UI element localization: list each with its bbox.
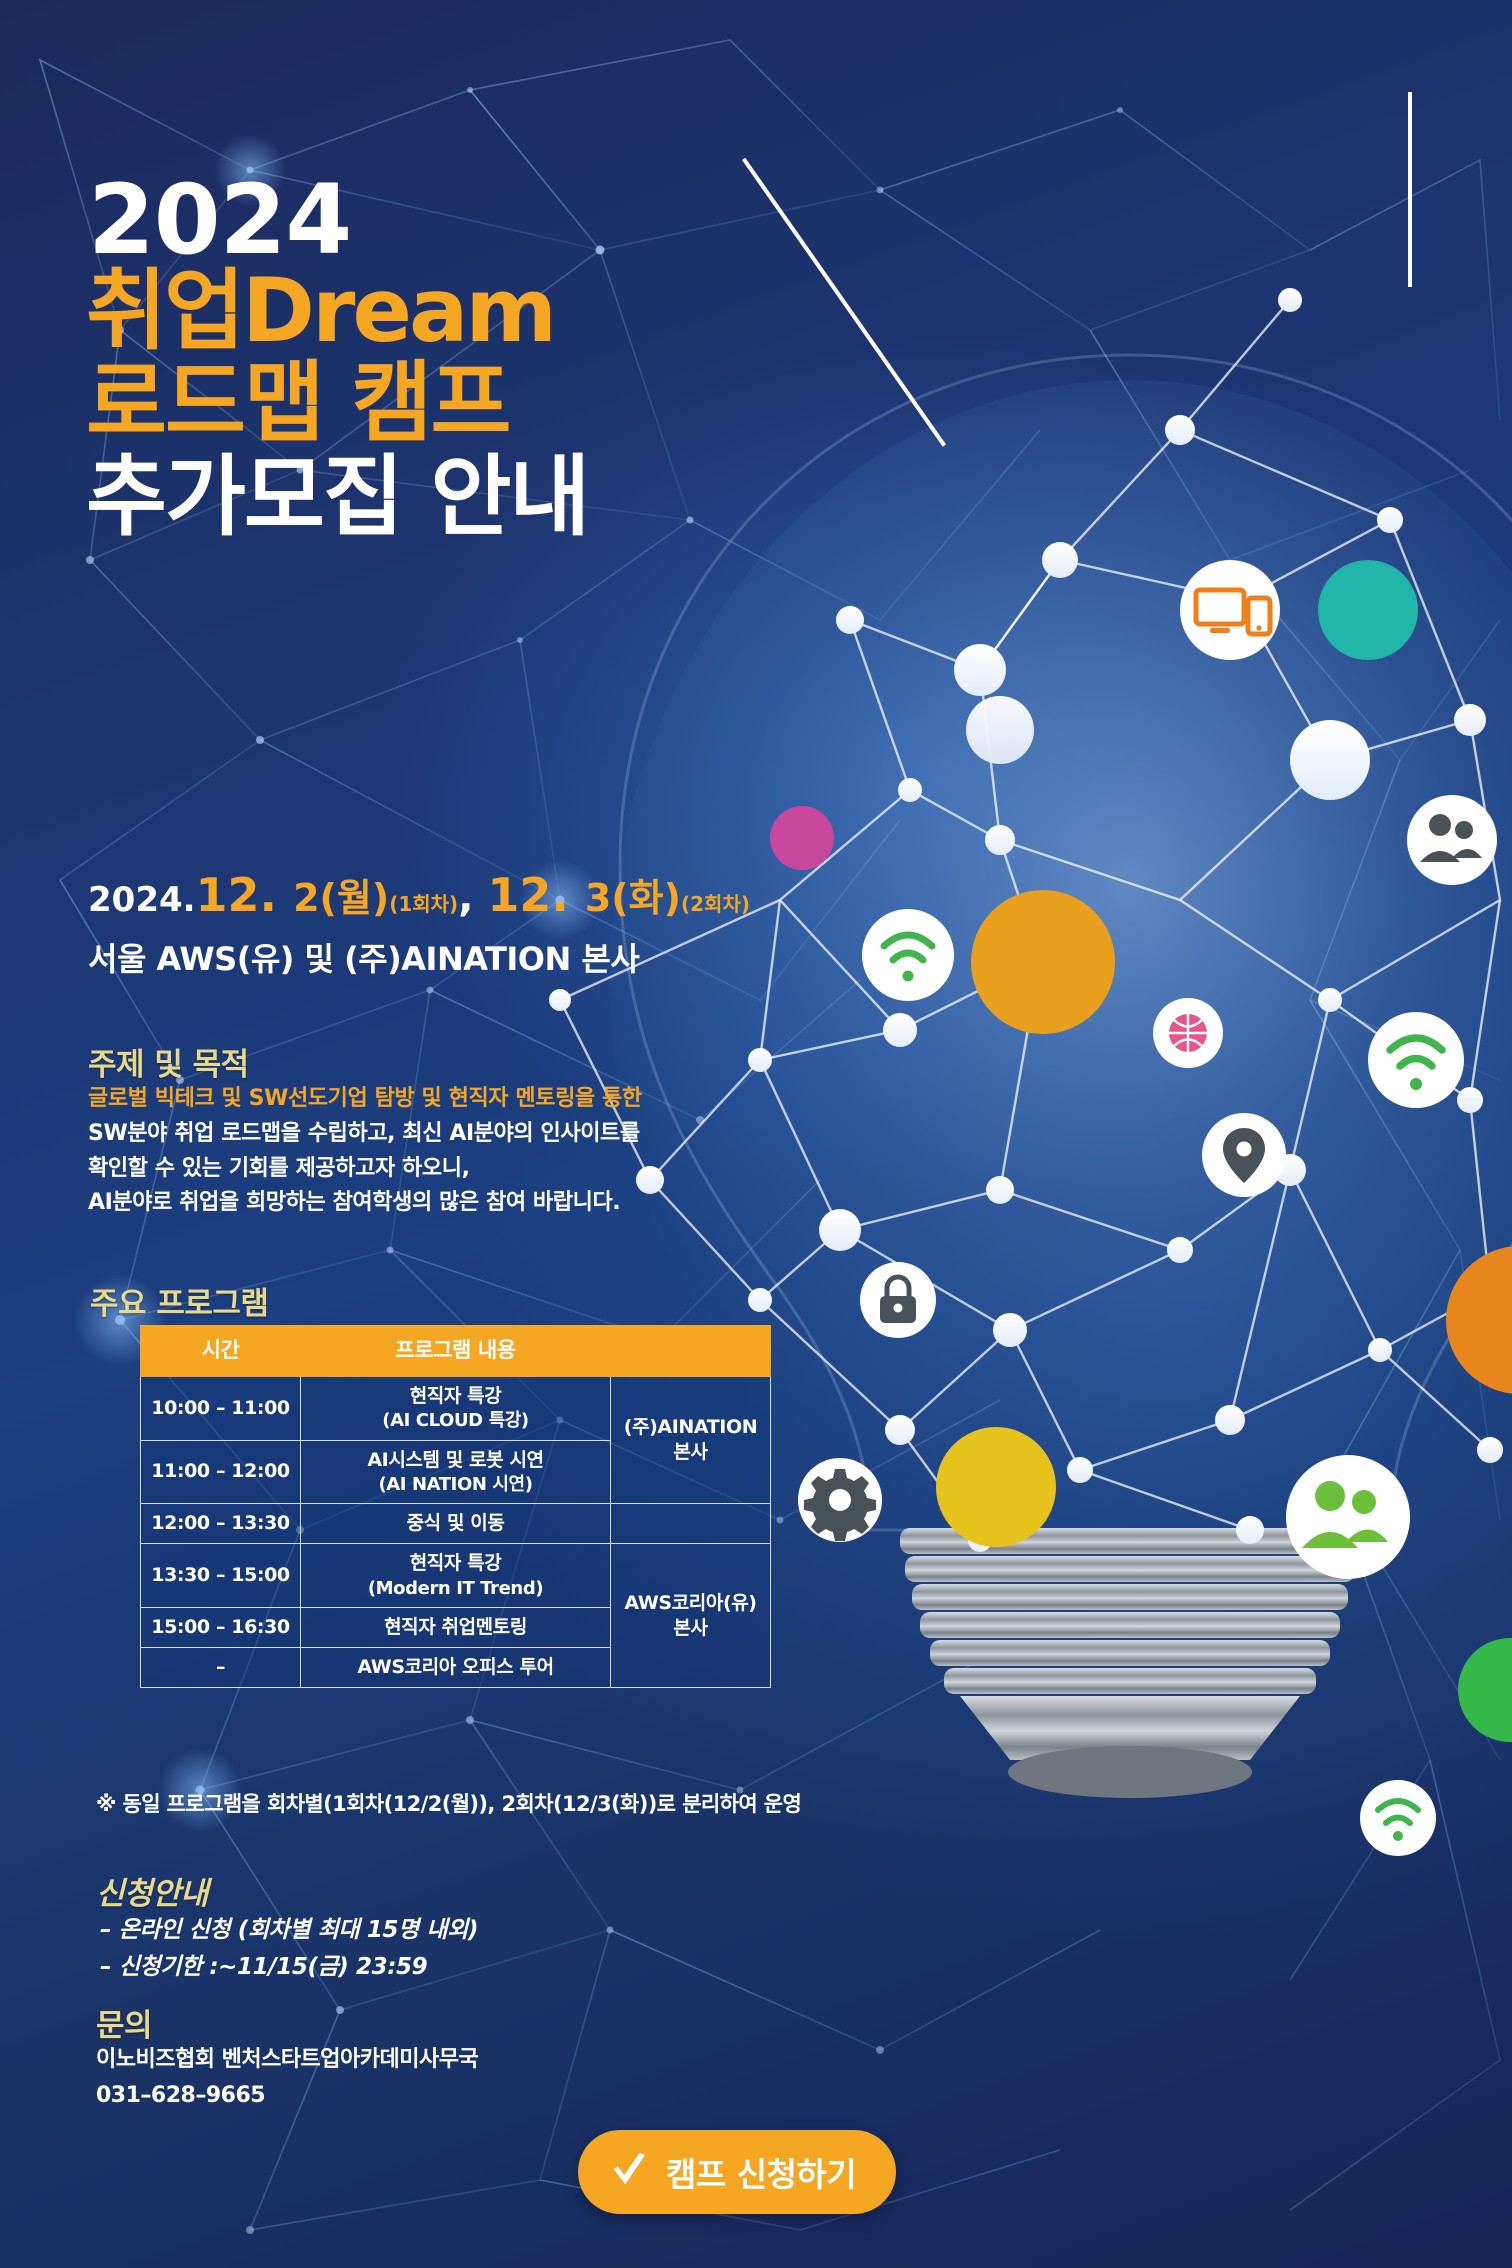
icon-bubble-monitor [1180,560,1280,660]
subject-line-2: SW분야 취업 로드맵을 수립하고, 최신 AI분야의 인사이트를 [88,1117,728,1152]
section-heading-subject: 주제 및 목적 [88,1039,249,1084]
icon-bubble-wifi-left [862,909,954,1001]
cell-place: (주)AINATION 본사 [611,1376,771,1504]
date-separator: , [458,875,487,921]
poster-year: 2024 [88,172,351,268]
cell-program-sub: (AI CLOUD 특강) [305,1409,606,1433]
program-table: 시간 프로그램 내용 10:00 – 11:00 현직자 특강 (AI CLOU… [140,1325,771,1688]
cell-program-sub: (AI NATION 시연) [305,1473,606,1497]
cell-program: 현직자 특강 (AI CLOUD 특강) [301,1376,611,1440]
apply-camp-button[interactable]: 캠프 신청하기 [578,2130,896,2214]
section-heading-apply: 신청안내 [96,1868,208,1913]
cell-program-sub: (Modern IT Trend) [305,1577,606,1601]
cell-place-empty [611,1504,771,1544]
subject-line-3: 확인할 수 있는 기회를 제공하고자 하오니, [88,1152,728,1187]
column-header-place [611,1326,771,1377]
apply-item: – 온라인 신청 (회차별 최대 15명 내외) [100,1912,478,1949]
icon-bubble-wifi-right [1368,1012,1464,1108]
cell-time: 11:00 – 12:00 [141,1440,301,1504]
contact-organization: 이노비즈협회 벤처스타트업아카데미사무국 [96,2042,478,2078]
cell-place-sub: 본사 [615,1616,766,1641]
icon-bubble-gear [798,1458,882,1542]
title-line-1: 취업Dream [86,268,588,354]
accent-node-magenta [770,806,834,870]
table-header-row: 시간 프로그램 내용 [141,1326,771,1377]
apply-items: – 온라인 신청 (회차별 최대 15명 내외) – 신청기한 :~11/15(… [100,1912,478,1987]
cell-program: 중식 및 이동 [301,1504,611,1544]
cell-place-main: AWS코리아(유) [615,1591,766,1616]
cell-program: 현직자 취업멘토링 [301,1608,611,1648]
cell-program: 현직자 특강 (Modern IT Trend) [301,1544,611,1608]
icon-bubble-wifi-bottom [1360,1780,1436,1856]
cell-program-main: 현직자 특강 [305,1384,606,1409]
icon-bubble-users-top [1407,795,1497,885]
poster-canvas: 2024 취업Dream 로드맵 캠프 추가모집 안내 2024.12. 2(월… [0,0,1512,2268]
date-day-1: 2(월) [293,876,389,920]
subject-line-1: 글로벌 빅테크 및 SW선도기업 탐방 및 현직자 멘토링을 통한 [88,1082,728,1117]
poster-title: 취업Dream 로드맵 캠프 추가모집 안내 [86,268,588,541]
event-venue: 서울 AWS(유) 및 (주)AINATION 본사 [88,934,639,980]
cell-program-main: 현직자 특강 [305,1551,606,1576]
accent-node-orange [971,890,1115,1034]
section-heading-program: 주요 프로그램 [90,1278,268,1323]
contact-phone: 031–628–9665 [96,2078,478,2114]
accent-node-yellow [936,1427,1056,1547]
vertical-ray-decoration [1408,92,1412,287]
section-heading-contact: 문의 [96,2000,152,2045]
event-dateline: 2024.12. 2(월)(1회차), 12. 3(화)(2회차) [88,872,750,918]
subject-body: 글로벌 빅테크 및 SW선도기업 탐방 및 현직자 멘토링을 통한 SW분야 취… [88,1082,728,1221]
cell-time: 15:00 – 16:30 [141,1608,301,1648]
date-month-2: 12. [487,868,585,922]
cell-place-main: (주)AINATION [615,1415,766,1440]
cell-place-sub: 본사 [615,1440,766,1465]
icon-bubble-lock [860,1262,936,1338]
cell-program: AI시스템 및 로봇 시연 (AI NATION 시연) [301,1440,611,1504]
date-day-2: 3(화) [585,876,681,920]
table-row: 10:00 – 11:00 현직자 특강 (AI CLOUD 특강) (주)AI… [141,1376,771,1440]
cell-time: 13:30 – 15:00 [141,1544,301,1608]
program-note: ※ 동일 프로그램을 회차별(1회차(12/2(월)), 2회차(12/3(화)… [96,1788,801,1818]
accent-node-green [1458,1638,1512,1742]
cell-place: AWS코리아(유) 본사 [611,1544,771,1688]
title-line-3: 추가모집 안내 [86,454,588,540]
apply-item: – 신청기한 :~11/15(금) 23:59 [100,1949,478,1986]
cell-time: 10:00 – 11:00 [141,1376,301,1440]
table-row: 12:00 – 13:30 중식 및 이동 [141,1504,771,1544]
date-month-1: 12. [196,868,294,922]
cell-time: 12:00 – 13:30 [141,1504,301,1544]
subject-line-4: AI분야로 취업을 희망하는 참여학생의 많은 참여 바랍니다. [88,1186,728,1221]
cell-time: – [141,1648,301,1688]
date-session-2: (2회차) [681,892,750,916]
icon-bubble-location-pin [1202,1113,1286,1197]
column-header-program: 프로그램 내용 [301,1326,611,1377]
cell-program-main: AI시스템 및 로봇 시연 [305,1448,606,1473]
contact-details: 이노비즈협회 벤처스타트업아카데미사무국 031–628–9665 [96,2042,478,2115]
icon-bubble-users-green [1286,1455,1410,1579]
table-row: 13:30 – 15:00 현직자 특강 (Modern IT Trend) A… [141,1544,771,1608]
icon-bubble-globe [1153,998,1223,1068]
apply-camp-button-label: 캠프 신청하기 [666,2148,856,2196]
content-column: 2024 취업Dream 로드맵 캠프 추가모집 안내 2024.12. 2(월… [0,0,760,2268]
accent-node-teal [1318,560,1418,660]
date-year-prefix: 2024. [88,880,196,920]
title-line-2: 로드맵 캠프 [86,360,588,446]
cell-program: AWS코리아 오피스 투어 [301,1648,611,1688]
column-header-time: 시간 [141,1326,301,1377]
date-session-1: (1회차) [389,892,458,916]
check-icon [610,2152,648,2192]
